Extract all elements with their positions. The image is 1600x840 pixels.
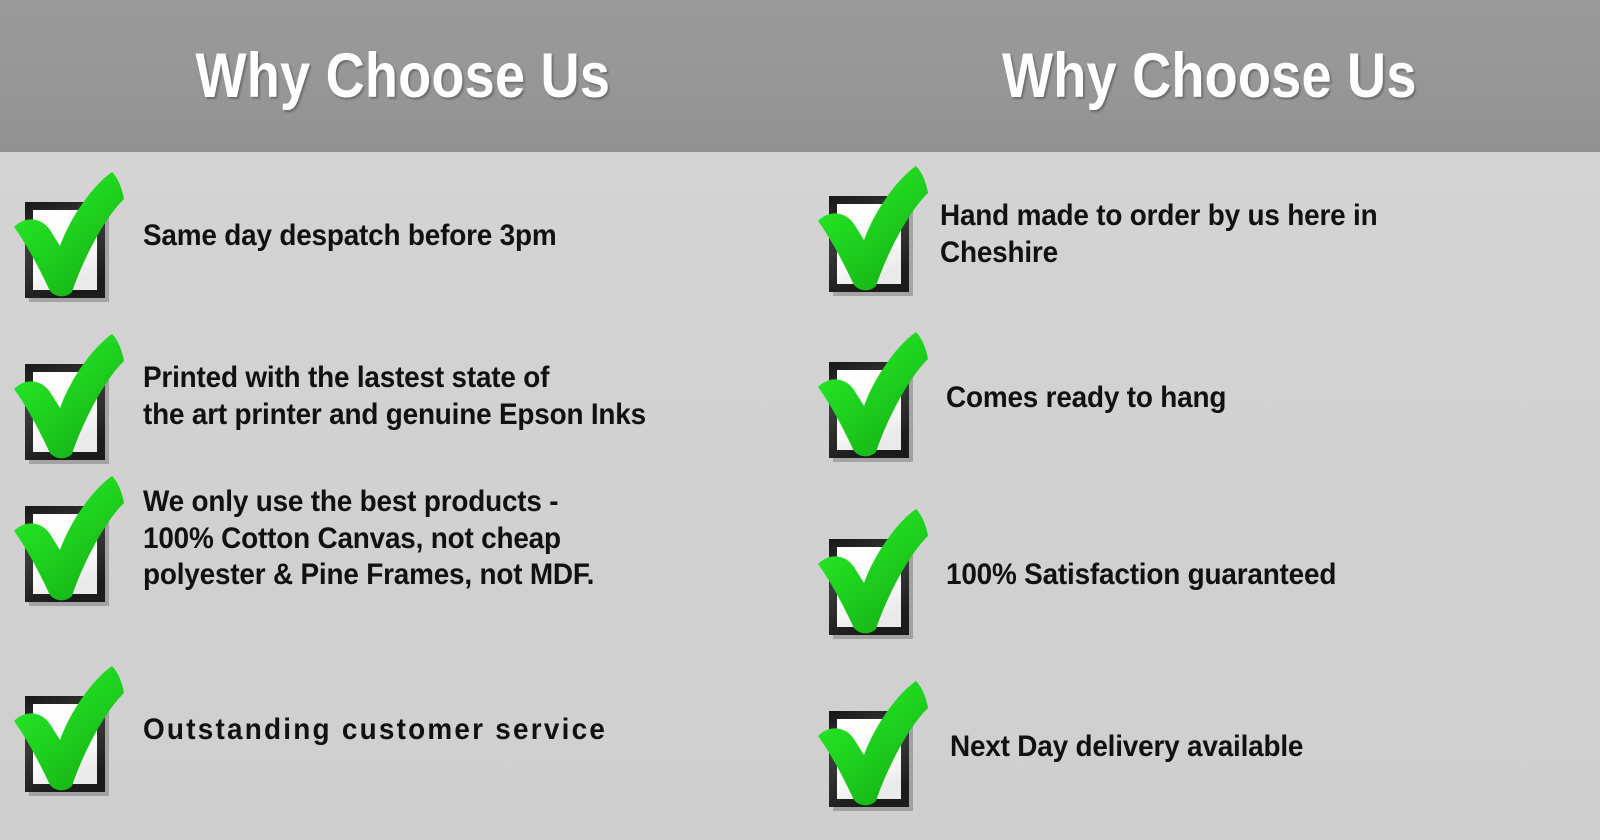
why-choose-us-banner: Why Choose Us Why Choose Us: [0, 0, 1600, 840]
feature-text: We only use the best products - 100% Cot…: [143, 484, 594, 594]
feature-text: Comes ready to hang: [946, 380, 1226, 417]
page-title-left: Why Choose Us: [59, 0, 781, 152]
feature-item: Hand made to order by us here in Cheshir…: [808, 164, 1598, 304]
feature-text: Outstanding customer service: [143, 712, 607, 749]
feature-text: Printed with the lastest state of the ar…: [143, 360, 646, 433]
feature-item: Comes ready to hang: [808, 330, 1598, 470]
feature-text: Hand made to order by us here in Cheshir…: [940, 198, 1377, 271]
green-check-icon: [8, 332, 128, 472]
feature-item: Outstanding customer service: [8, 664, 788, 804]
green-check-icon: [808, 679, 928, 819]
feature-text: Same day despatch before 3pm: [143, 218, 556, 255]
green-check-icon: [808, 330, 928, 470]
feature-item: We only use the best products - 100% Cot…: [8, 474, 798, 614]
page-title-right: Why Choose Us: [857, 0, 1554, 152]
header-band: Why Choose Us Why Choose Us: [0, 0, 1600, 152]
header-left-half: Why Choose Us: [0, 0, 800, 152]
green-check-icon: [808, 507, 928, 647]
green-check-icon: [8, 664, 128, 804]
green-check-icon: [8, 170, 128, 310]
header-right-half: Why Choose Us: [800, 0, 1600, 152]
feature-text: 100% Satisfaction guaranteed: [946, 557, 1336, 594]
feature-item: Next Day delivery available: [808, 679, 1598, 819]
feature-column-right: Hand made to order by us here in Cheshir…: [800, 152, 1600, 840]
feature-text: Next Day delivery available: [950, 729, 1303, 766]
feature-column-left: Same day despatch before 3pm: [0, 152, 800, 840]
feature-item: Same day despatch before 3pm: [8, 170, 788, 310]
feature-item: Printed with the lastest state of the ar…: [8, 332, 798, 472]
feature-item: 100% Satisfaction guaranteed: [808, 507, 1598, 647]
green-check-icon: [8, 474, 128, 614]
green-check-icon: [808, 164, 928, 304]
feature-columns: Same day despatch before 3pm: [0, 152, 1600, 840]
